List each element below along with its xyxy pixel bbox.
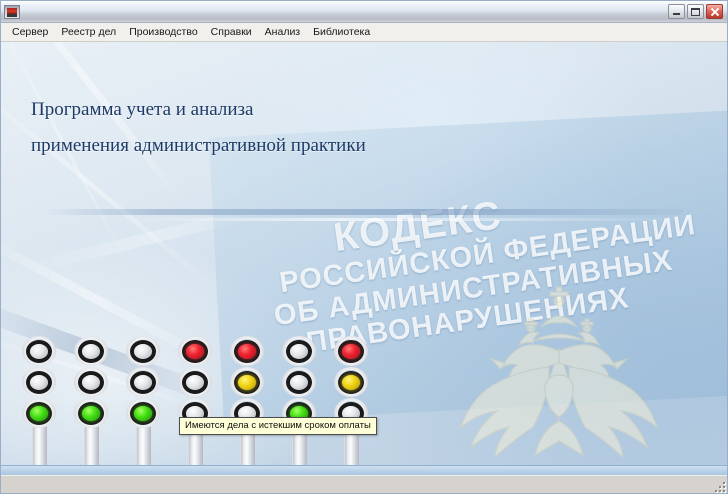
lamp-middle xyxy=(178,367,212,397)
traffic-light-3[interactable] xyxy=(125,336,161,465)
traffic-light-2[interactable] xyxy=(73,336,109,465)
window-controls xyxy=(668,4,723,19)
bottom-rail xyxy=(1,465,727,475)
decorative-streak xyxy=(23,201,278,276)
menu-item-library[interactable]: Библиотека xyxy=(307,24,377,40)
menu-item-case-registry[interactable]: Реестр дел xyxy=(55,24,123,40)
traffic-light-lamps xyxy=(74,336,108,428)
traffic-light-lamps xyxy=(334,336,368,428)
traffic-light-indicator-row xyxy=(21,329,369,465)
russian-coat-of-arms-eagle-icon xyxy=(409,271,709,465)
traffic-light-7[interactable] xyxy=(333,336,369,465)
page-title-line-1: Программа учета и анализа xyxy=(31,92,366,128)
menu-item-analysis[interactable]: Анализ xyxy=(259,24,307,40)
bulb-green-on xyxy=(82,406,100,421)
status-bar xyxy=(1,475,727,493)
lamp-top xyxy=(126,336,160,366)
traffic-light-4[interactable] xyxy=(177,336,213,465)
traffic-light-lamps xyxy=(282,336,316,428)
decorative-band xyxy=(43,209,683,215)
menu-item-server[interactable]: Сервер xyxy=(6,24,55,40)
bulb-yellow-off xyxy=(30,375,48,390)
maximize-button[interactable] xyxy=(687,4,704,19)
page-title: Программа учета и анализа применения адм… xyxy=(31,92,366,164)
application-icon[interactable] xyxy=(4,5,20,19)
page-title-line-2: применения административной практики xyxy=(31,128,366,164)
bulb-yellow-on xyxy=(342,375,360,390)
minimize-icon xyxy=(669,5,684,18)
menu-item-production[interactable]: Производство xyxy=(123,24,204,40)
lamp-top xyxy=(74,336,108,366)
traffic-light-lamps xyxy=(126,336,160,428)
maximize-icon xyxy=(688,5,703,18)
bulb-red-off xyxy=(290,344,308,359)
codex-watermark-line-3: ОБ АДМИНИСТРАТИВНЫХ xyxy=(272,236,727,332)
resize-grip[interactable] xyxy=(713,480,725,492)
bulb-red-off xyxy=(30,344,48,359)
lamp-middle xyxy=(126,367,160,397)
traffic-light-6[interactable] xyxy=(281,336,317,465)
bulb-red-on xyxy=(238,344,256,359)
traffic-light-pole xyxy=(136,425,151,465)
application-window: Сервер Реестр дел Производство Справки А… xyxy=(0,0,728,494)
close-button[interactable] xyxy=(706,4,723,19)
bulb-red-off xyxy=(82,344,100,359)
lamp-middle xyxy=(74,367,108,397)
lamp-middle xyxy=(334,367,368,397)
lamp-top xyxy=(178,336,212,366)
lamp-top xyxy=(230,336,264,366)
traffic-light-pole xyxy=(32,425,47,465)
bulb-green-on xyxy=(30,406,48,421)
codex-watermark-line-2: РОССИЙСКОЙ ФЕДЕРАЦИИ xyxy=(268,205,727,301)
traffic-light-lamps xyxy=(178,336,212,428)
traffic-light-pole xyxy=(84,425,99,465)
lamp-bottom xyxy=(126,398,160,428)
traffic-light-lamps xyxy=(230,336,264,428)
lamp-top xyxy=(282,336,316,366)
lamp-top xyxy=(22,336,56,366)
bulb-red-on xyxy=(342,344,360,359)
bulb-green-on xyxy=(134,406,152,421)
traffic-light-1[interactable] xyxy=(21,336,57,465)
lamp-middle xyxy=(22,367,56,397)
lamp-middle xyxy=(282,367,316,397)
lamp-top xyxy=(334,336,368,366)
bulb-yellow-off xyxy=(290,375,308,390)
codex-watermark-line-1: КОДЕКС xyxy=(262,162,727,270)
bulb-yellow-off xyxy=(186,375,204,390)
lamp-bottom xyxy=(74,398,108,428)
lamp-middle xyxy=(230,367,264,397)
lamp-bottom xyxy=(22,398,56,428)
bulb-yellow-off xyxy=(82,375,100,390)
traffic-light-5[interactable] xyxy=(229,336,265,465)
bulb-yellow-off xyxy=(134,375,152,390)
bulb-yellow-on xyxy=(238,375,256,390)
tooltip: Имеются дела с истекшим сроком оплаты xyxy=(179,417,377,435)
close-icon xyxy=(707,5,722,18)
menu-bar: Сервер Реестр дел Производство Справки А… xyxy=(1,23,727,42)
traffic-light-lamps xyxy=(22,336,56,428)
minimize-button[interactable] xyxy=(668,4,685,19)
splash-client-area: КОДЕКС РОССИЙСКОЙ ФЕДЕРАЦИИ ОБ АДМИНИСТР… xyxy=(1,42,727,465)
title-bar xyxy=(1,1,727,23)
decorative-band-highlight xyxy=(121,218,681,221)
menu-item-references[interactable]: Справки xyxy=(205,24,259,40)
bulb-red-off xyxy=(134,344,152,359)
bulb-red-on xyxy=(186,344,204,359)
